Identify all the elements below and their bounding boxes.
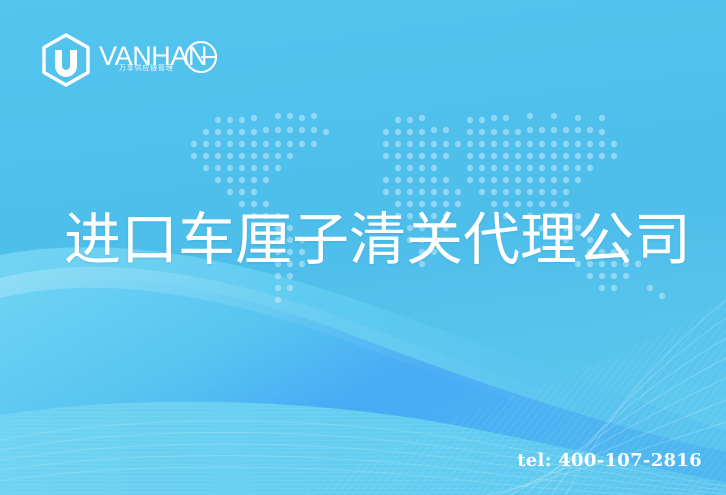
hexagon-v-logo-icon: [40, 33, 92, 87]
promo-banner: VANHAN 万享供应链管理 进口车厘子清关代理公司 tel: 400-107-…: [0, 0, 726, 495]
contact-phone[interactable]: tel: 400-107-2816: [517, 450, 702, 471]
page-title: 进口车厘子清关代理公司: [64, 207, 691, 273]
brand-logo[interactable]: VANHAN 万享供应链管理: [40, 33, 219, 87]
brand-wordmark: VANHAN 万享供应链管理: [99, 37, 219, 83]
brand-subtitle-cn: 万享供应链管理: [119, 63, 174, 73]
world-map-dots-icon: [178, 108, 702, 304]
